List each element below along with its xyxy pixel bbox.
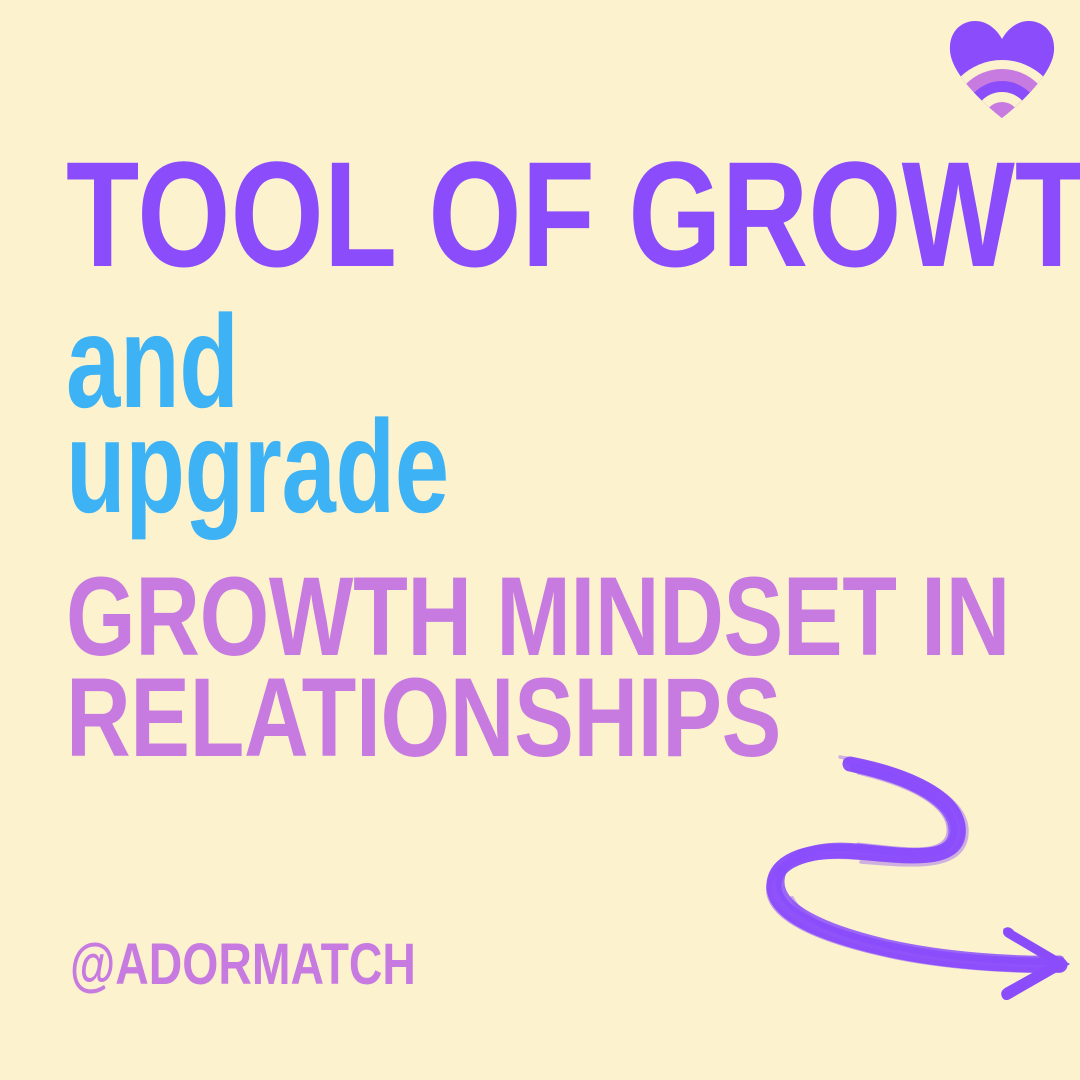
headline-body-line-1: GROWTH MINDSET IN xyxy=(66,567,834,668)
headline-title: TOOL OF GROWTH xyxy=(66,150,834,279)
headline-subgroup: and upgrade xyxy=(66,307,1026,523)
headline-bodygroup: GROWTH MINDSET IN RELATIONSHIPS xyxy=(66,567,1026,769)
headline-body-line-2: RELATIONSHIPS xyxy=(66,668,834,769)
heart-wifi-logo xyxy=(946,18,1058,118)
social-handle: @ADORMATCH xyxy=(70,936,416,994)
social-post-canvas: TOOL OF GROWTH and upgrade GROWTH MINDSE… xyxy=(0,0,1080,1080)
headline-block: TOOL OF GROWTH and upgrade GROWTH MINDSE… xyxy=(66,150,1026,768)
headline-sub-line-2: upgrade xyxy=(66,412,776,523)
curved-brush-arrow-icon xyxy=(762,748,1080,1010)
arrow-head xyxy=(1001,927,1070,1000)
